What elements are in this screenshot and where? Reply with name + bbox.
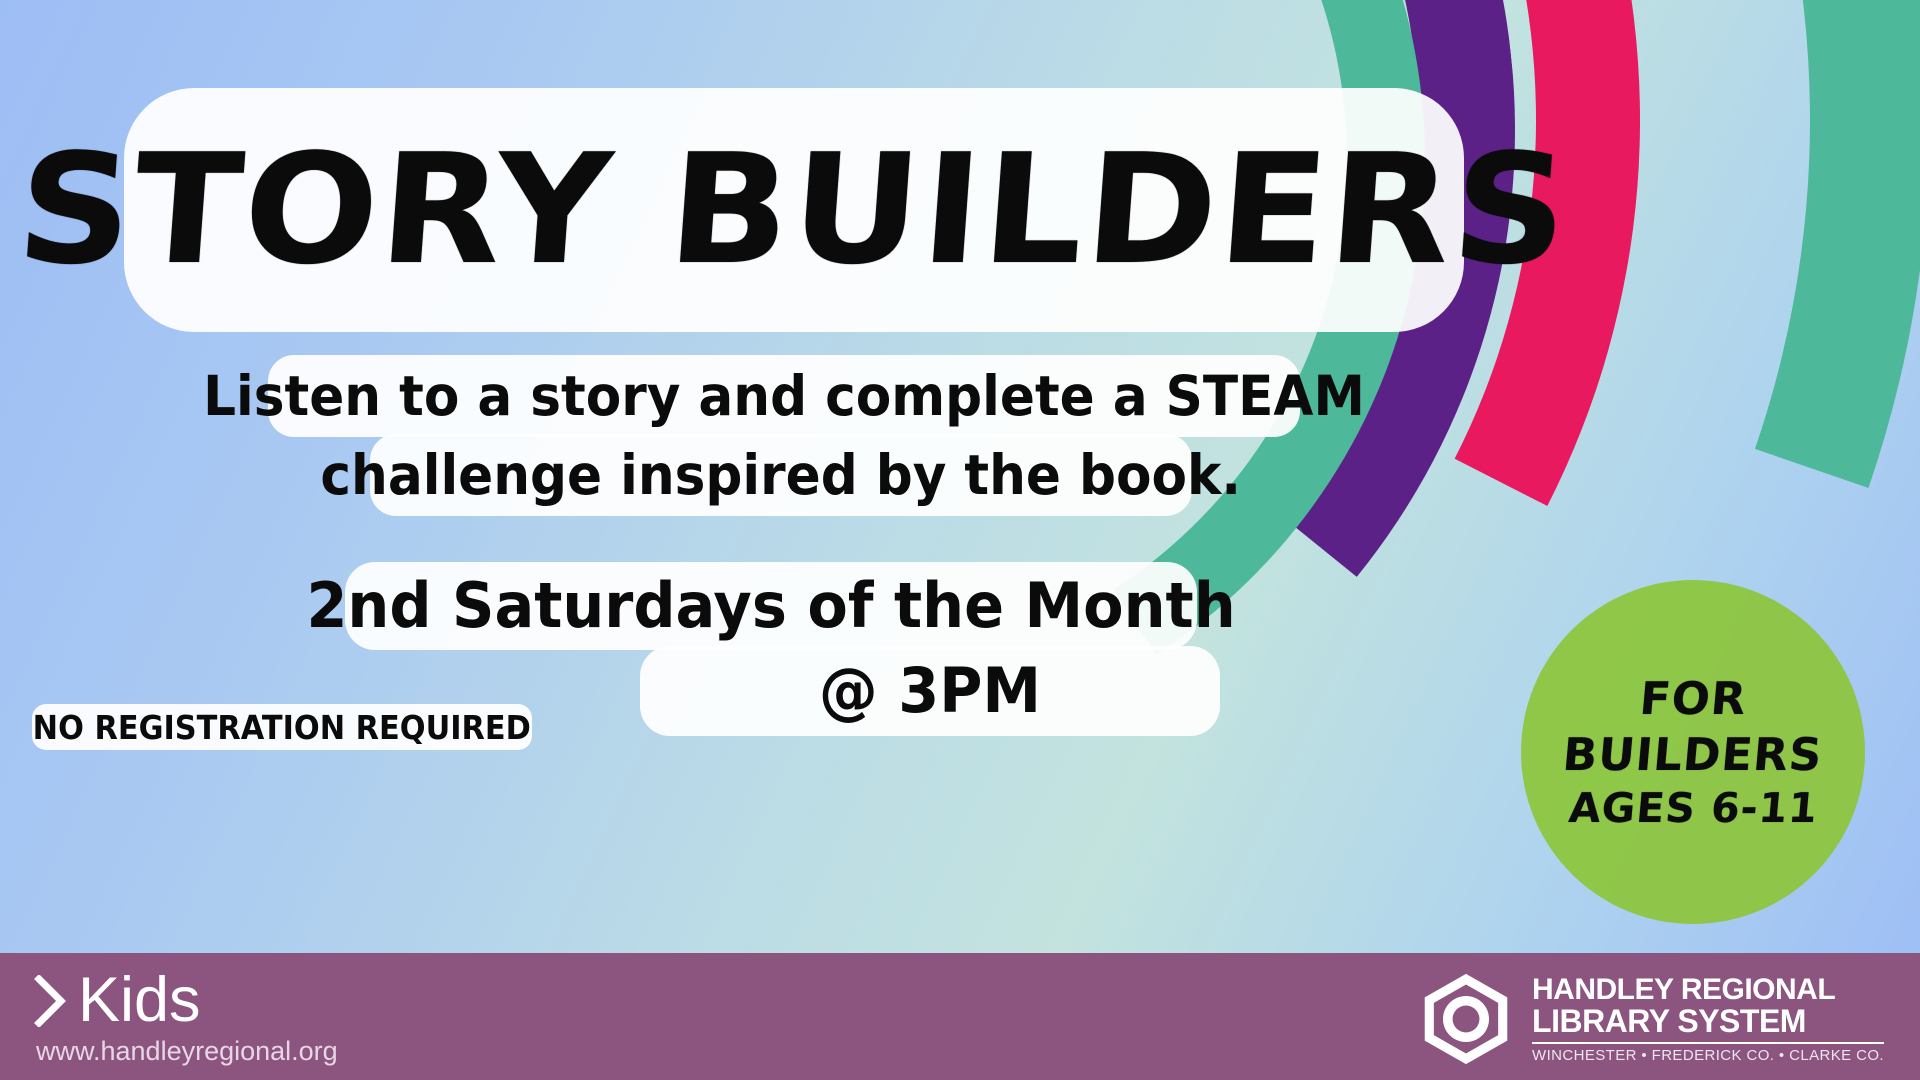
page-title: STORY BUILDERS (13, 134, 1575, 286)
age-badge-line-3: AGES 6-11 (1567, 788, 1819, 829)
title-plate: STORY BUILDERS (124, 88, 1464, 332)
library-name-line-2: LIBRARY SYSTEM (1532, 1005, 1884, 1038)
footer-section-label: Kids (78, 969, 201, 1032)
description-plate-line2: challenge inspired by the book. (370, 434, 1192, 516)
logo-divider (1532, 1042, 1884, 1044)
poster-canvas: STORY BUILDERS Listen to a story and com… (0, 0, 1920, 1080)
library-logo: HANDLEY REGIONAL LIBRARY SYSTEM WINCHEST… (1418, 971, 1884, 1067)
chevron-right-icon (34, 975, 68, 1027)
schedule-plate-date: 2nd Saturdays of the Month (345, 562, 1197, 650)
library-name-line-1: HANDLEY REGIONAL (1532, 975, 1884, 1006)
schedule-date: 2nd Saturdays of the Month (306, 575, 1235, 637)
library-locations-tagline: WINCHESTER • FREDERICK CO. • CLARKE CO. (1532, 1048, 1884, 1063)
hexagon-logo-icon (1418, 971, 1514, 1067)
footer-section: Kids (34, 969, 338, 1032)
age-badge: FOR BUILDERS AGES 6-11 (1521, 580, 1865, 924)
footer-branding: Kids www.handleyregional.org (34, 969, 338, 1065)
footer-website-url: www.handleyregional.org (36, 1038, 338, 1065)
description-line1: Listen to a story and complete a STEAM (203, 369, 1365, 424)
description-plate-line1: Listen to a story and complete a STEAM (268, 355, 1300, 437)
registration-note: NO REGISTRATION REQUIRED (33, 711, 531, 744)
footer-bar: Kids www.handleyregional.org HANDLEY REG… (0, 953, 1920, 1080)
schedule-time: @ 3PM (819, 660, 1041, 722)
description-line2: challenge inspired by the book. (321, 448, 1242, 503)
age-badge-line-1: FOR (1638, 676, 1749, 721)
library-logo-text: HANDLEY REGIONAL LIBRARY SYSTEM WINCHEST… (1532, 975, 1884, 1063)
age-badge-line-2: BUILDERS (1561, 732, 1824, 777)
registration-note-plate: NO REGISTRATION REQUIRED (32, 704, 532, 750)
schedule-plate-time: @ 3PM (640, 646, 1220, 736)
